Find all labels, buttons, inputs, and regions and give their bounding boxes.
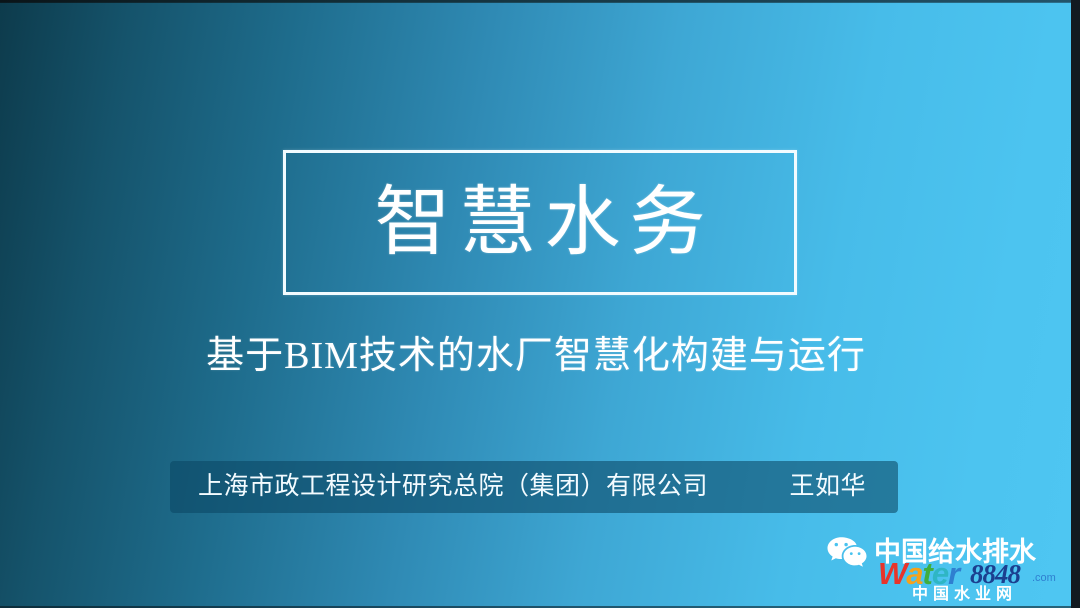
brand-letter-w: W <box>878 558 906 589</box>
affiliation-organization: 上海市政工程设计研究总院（集团）有限公司 <box>198 461 708 513</box>
presentation-slide: 智慧水务 基于BIM技术的水厂智慧化构建与运行 上海市政工程设计研究总院（集团）… <box>0 0 1080 608</box>
brand-letter-e: e <box>932 558 948 589</box>
slide-title: 智慧水务 <box>283 150 797 295</box>
slide-right-edge <box>1071 0 1080 608</box>
brand-tld: .com <box>1032 572 1056 584</box>
water8848-wordmark: Water <box>878 558 959 589</box>
affiliation-bar: 上海市政工程设计研究总院（集团）有限公司 王如华 <box>170 461 898 513</box>
brand-letter-t: t <box>923 558 932 589</box>
speaker-name: 王如华 <box>789 461 866 513</box>
slide-background <box>0 2 1072 608</box>
slide-subtitle: 基于BIM技术的水厂智慧化构建与运行 <box>0 333 1072 379</box>
brand-letter-a: a <box>906 558 922 589</box>
brand-number: 8848 <box>970 560 1020 588</box>
watermark-overlay: 中国给水排水 Water 8848 .com 中国水业网 <box>826 536 1072 606</box>
brand-subtitle: 中国水业网 <box>912 586 1017 604</box>
brand-letter-r: r <box>948 558 959 589</box>
slide-top-edge <box>0 0 1080 3</box>
wechat-icon <box>826 536 868 568</box>
